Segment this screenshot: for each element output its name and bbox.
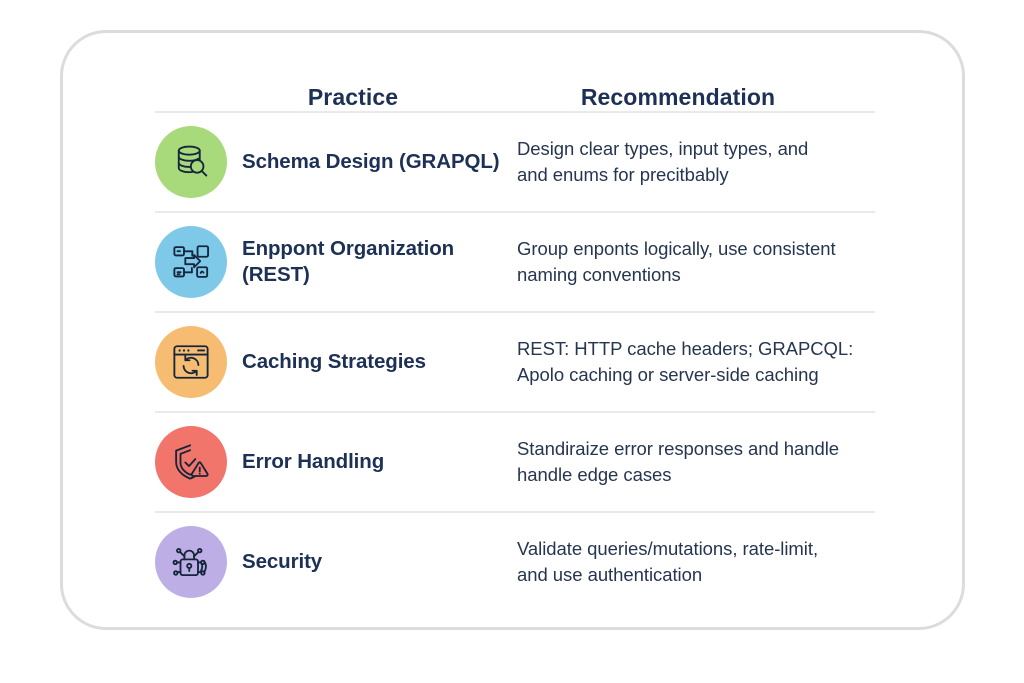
recommendation-text: Validate queries/mutations, rate-limit, … — [517, 536, 875, 589]
recommendation-line: Validate queries/mutations, rate-limit, — [517, 536, 875, 562]
icon-badge-shield-check-alert — [155, 426, 227, 498]
column-header-practice: Practice — [155, 84, 515, 111]
recommendation-line: Apolo caching or server-side caching — [517, 362, 875, 388]
recommendation-line: naming conventions — [517, 262, 875, 288]
practice-label: Enppont Organization (REST) — [242, 236, 515, 288]
table-row: Error Handling Standiraize error respons… — [155, 413, 875, 511]
column-header-recommendation: Recommendation — [515, 84, 875, 111]
shield-check-alert-icon — [170, 441, 212, 483]
icon-badge-network-lock — [155, 526, 227, 598]
recommendation-line: and enums for precitbably — [517, 162, 875, 188]
database-search-icon — [170, 141, 212, 183]
icon-badge-database-search — [155, 126, 227, 198]
recommendation-text: Group enponts logically, use consistent … — [517, 236, 875, 289]
practice-recommendation-card: Practice Recommendation — [60, 30, 965, 630]
recommendation-cell: Standiraize error responses and handle h… — [515, 436, 875, 489]
practice-label: Error Handling — [242, 449, 384, 475]
icon-badge-flowchart-arrow — [155, 226, 227, 298]
practice-cell: Schema Design (GRAPQL) — [155, 126, 515, 198]
recommendation-line: Standiraize error responses and handle — [517, 436, 875, 462]
recommendation-cell: REST: HTTP cache headers; GRAPCQL: Apolo… — [515, 336, 875, 389]
icon-badge-browser-refresh — [155, 326, 227, 398]
table-header-row: Practice Recommendation — [155, 61, 875, 111]
recommendation-line: Design clear types, input types, and — [517, 136, 875, 162]
recommendation-text: Standiraize error responses and handle h… — [517, 436, 875, 489]
practice-label: Schema Design (GRAPQL) — [242, 149, 500, 175]
recommendation-text: REST: HTTP cache headers; GRAPCQL: Apolo… — [517, 336, 875, 389]
table-row: Enppont Organization (REST) Group enpont… — [155, 213, 875, 311]
header-cell-practice: Practice — [155, 84, 515, 111]
recommendation-line: REST: HTTP cache headers; GRAPCQL: — [517, 336, 875, 362]
practice-label: Caching Strategies — [242, 349, 426, 375]
practice-cell: Enppont Organization (REST) — [155, 226, 515, 298]
flowchart-arrow-icon — [170, 241, 212, 283]
recommendation-text: Design clear types, input types, and and… — [517, 136, 875, 189]
recommendation-line: and use authentication — [517, 562, 875, 588]
practice-table: Practice Recommendation — [155, 61, 875, 611]
browser-refresh-icon — [170, 341, 212, 383]
recommendation-cell: Group enponts logically, use consistent … — [515, 236, 875, 289]
table-row: Schema Design (GRAPQL) Design clear type… — [155, 113, 875, 211]
practice-label: Security — [242, 549, 322, 575]
network-lock-icon — [170, 541, 212, 583]
practice-cell: Security — [155, 526, 515, 598]
header-cell-recommendation: Recommendation — [515, 84, 875, 111]
recommendation-line: handle edge cases — [517, 462, 875, 488]
practice-cell: Caching Strategies — [155, 326, 515, 398]
recommendation-cell: Design clear types, input types, and and… — [515, 136, 875, 189]
table-row: Security Validate queries/mutations, rat… — [155, 513, 875, 611]
recommendation-line: Group enponts logically, use consistent — [517, 236, 875, 262]
practice-cell: Error Handling — [155, 426, 515, 498]
recommendation-cell: Validate queries/mutations, rate-limit, … — [515, 536, 875, 589]
table-row: Caching Strategies REST: HTTP cache head… — [155, 313, 875, 411]
